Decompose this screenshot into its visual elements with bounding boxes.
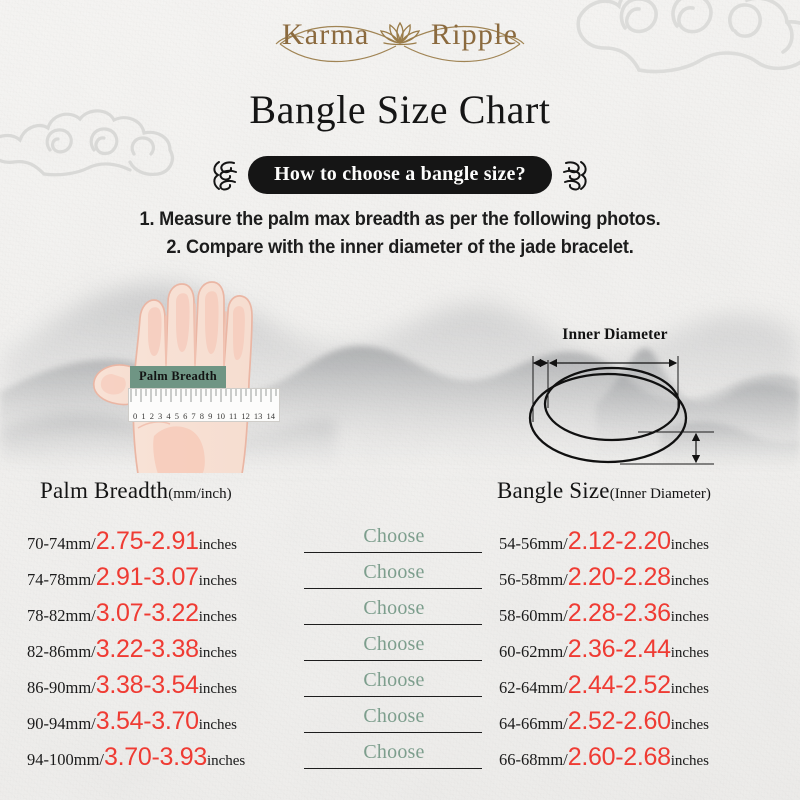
bangle-size-cell: 62-64mm/2.44-2.52inches [492,673,800,698]
choose-label[interactable]: Choose [363,633,424,656]
how-to-badge-row: How to choose a bangle size? [0,156,800,194]
instruction-line-1: 1. Measure the palm max breadth as per t… [28,206,772,234]
swirl-flourish-left-icon [209,158,239,192]
palm-breadth-cell: 94-100mm/3.70-3.93inches [0,745,296,770]
palm-mm-value: 90-94mm/ [27,714,96,733]
choose-label[interactable]: Choose [363,597,424,620]
ruler-tick: 2 [150,412,154,421]
ruler-tick: 6 [183,412,187,421]
bangle-unit: inches [671,717,709,733]
lotus-icon [378,20,422,54]
table-row: 94-100mm/3.70-3.93inches Choose 66-68mm/… [0,739,800,775]
bangle-inch-value: 2.12-2.20 [568,527,671,555]
bangle-inch-value: 2.60-2.68 [568,743,671,771]
choose-label[interactable]: Choose [363,741,424,764]
ruler-tick: 11 [229,412,237,421]
ruler-tick: 8 [200,412,204,421]
bangle-unit: inches [671,645,709,661]
section-heading-text: Palm Breadth [40,478,168,503]
ruler-icon: 0 1 2 3 4 5 6 7 8 9 10 11 12 13 14 [128,388,280,422]
table-row: 86-90mm/3.38-3.54inches Choose 62-64mm/2… [0,667,800,703]
palm-inch-value: 2.75-2.91 [96,527,199,555]
bangle-mm-value: 62-64mm/ [499,678,568,697]
palm-inch-value: 2.91-3.07 [96,563,199,591]
bangle-inch-value: 2.44-2.52 [568,671,671,699]
bangle-unit: inches [671,681,709,697]
palm-mm-value: 94-100mm/ [27,750,104,769]
choose-underline [304,660,482,662]
ruler-tick: 13 [254,412,263,421]
bangle-mm-value: 64-66mm/ [499,714,568,733]
brand-name-part2: Ripple [431,18,518,52]
bangle-mm-value: 60-62mm/ [499,642,568,661]
palm-inch-value: 3.22-3.38 [96,635,199,663]
bangle-unit: inches [671,753,709,769]
ruler-tick-labels: 0 1 2 3 4 5 6 7 8 9 10 11 12 13 14 [129,412,279,421]
section-heading-unit: (Inner Diameter) [610,486,711,502]
size-table: 70-74mm/2.75-2.91inches Choose 54-56mm/2… [0,523,800,775]
palm-breadth-label: Palm Breadth [130,366,226,388]
ruler-tick: 14 [267,412,276,421]
palm-mm-value: 86-90mm/ [27,678,96,697]
palm-mm-value: 70-74mm/ [27,534,96,553]
ruler-tick: 0 [133,412,137,421]
table-row: 74-78mm/2.91-3.07inches Choose 56-58mm/2… [0,559,800,595]
choose-label[interactable]: Choose [363,561,424,584]
bangle-ring-icon [500,346,730,476]
instructions-list: 1. Measure the palm max breadth as per t… [0,206,800,261]
bangle-size-cell: 66-68mm/2.60-2.68inches [492,745,800,770]
bangle-size-cell: 54-56mm/2.12-2.20inches [492,529,800,554]
section-heading-text: Bangle Size [497,478,610,503]
choose-cell[interactable]: Choose [296,559,492,595]
palm-breadth-cell: 90-94mm/3.54-3.70inches [0,709,296,734]
bangle-unit: inches [671,537,709,553]
palm-breadth-cell: 74-78mm/2.91-3.07inches [0,565,296,590]
choose-underline [304,552,482,554]
instruction-line-2: 2. Compare with the inner diameter of th… [28,234,772,262]
table-row: 82-86mm/3.22-3.38inches Choose 60-62mm/2… [0,631,800,667]
palm-unit: inches [199,609,237,625]
bangle-size-cell: 56-58mm/2.20-2.28inches [492,565,800,590]
table-row: 70-74mm/2.75-2.91inches Choose 54-56mm/2… [0,523,800,559]
ruler-tick: 7 [191,412,195,421]
inner-diameter-label: Inner Diameter [500,326,730,344]
how-to-badge: How to choose a bangle size? [248,156,552,194]
choose-cell[interactable]: Choose [296,595,492,631]
choose-cell[interactable]: Choose [296,703,492,739]
bangle-size-chart-page: Karma Ripple Bangle Size Chart [0,0,800,800]
swirl-flourish-right-icon [561,158,591,192]
section-heading-bangle-size: Bangle Size(Inner Diameter) [497,478,711,504]
table-row: 78-82mm/3.07-3.22inches Choose 58-60mm/2… [0,595,800,631]
bangle-inner-diameter-illustration: Inner Diameter [500,326,730,476]
bangle-inch-value: 2.36-2.44 [568,635,671,663]
ruler-tick: 3 [158,412,162,421]
choose-underline [304,624,482,626]
brand-logo: Karma Ripple [0,18,800,54]
section-heading-palm-breadth: Palm Breadth(mm/inch) [40,478,232,504]
ruler-tick: 10 [216,412,225,421]
palm-inch-value: 3.38-3.54 [96,671,199,699]
choose-label[interactable]: Choose [363,669,424,692]
ruler-tick: 1 [141,412,145,421]
palm-mm-value: 74-78mm/ [27,570,96,589]
choose-label[interactable]: Choose [363,705,424,728]
bangle-size-cell: 64-66mm/2.52-2.60inches [492,709,800,734]
bangle-mm-value: 58-60mm/ [499,606,568,625]
palm-inch-value: 3.54-3.70 [96,707,199,735]
palm-inch-value: 3.07-3.22 [96,599,199,627]
choose-cell[interactable]: Choose [296,739,492,775]
bangle-mm-value: 54-56mm/ [499,534,568,553]
palm-breadth-cell: 82-86mm/3.22-3.38inches [0,637,296,662]
brand-name: Karma Ripple [282,18,518,54]
bangle-unit: inches [671,573,709,589]
choose-underline [304,768,482,770]
ruler-tick: 5 [175,412,179,421]
palm-breadth-cell: 70-74mm/2.75-2.91inches [0,529,296,554]
palm-mm-value: 78-82mm/ [27,606,96,625]
palm-inch-value: 3.70-3.93 [104,743,207,771]
table-row: 90-94mm/3.54-3.70inches Choose 64-66mm/2… [0,703,800,739]
choose-cell[interactable]: Choose [296,667,492,703]
choose-label[interactable]: Choose [363,525,424,548]
bangle-inch-value: 2.28-2.36 [568,599,671,627]
palm-unit: inches [199,537,237,553]
palm-breadth-cell: 78-82mm/3.07-3.22inches [0,601,296,626]
palm-unit: inches [199,573,237,589]
choose-underline [304,588,482,590]
section-heading-unit: (mm/inch) [168,486,231,502]
bangle-mm-value: 56-58mm/ [499,570,568,589]
palm-unit: inches [199,645,237,661]
choose-underline [304,732,482,734]
palm-unit: inches [207,753,245,769]
bangle-unit: inches [671,609,709,625]
palm-unit: inches [199,717,237,733]
ruler-tick: 12 [241,412,250,421]
ruler-tick: 4 [166,412,170,421]
bangle-size-cell: 58-60mm/2.28-2.36inches [492,601,800,626]
ruler-tick: 9 [208,412,212,421]
bangle-size-cell: 60-62mm/2.36-2.44inches [492,637,800,662]
hand-measure-illustration: Palm Breadth [92,278,322,473]
choose-underline [304,696,482,698]
bangle-inch-value: 2.20-2.28 [568,563,671,591]
choose-cell[interactable]: Choose [296,631,492,667]
palm-unit: inches [199,681,237,697]
palm-breadth-cell: 86-90mm/3.38-3.54inches [0,673,296,698]
bangle-mm-value: 66-68mm/ [499,750,568,769]
page-title: Bangle Size Chart [0,86,800,133]
choose-cell[interactable]: Choose [296,523,492,559]
brand-name-part1: Karma [282,18,370,52]
palm-mm-value: 82-86mm/ [27,642,96,661]
bangle-inch-value: 2.52-2.60 [568,707,671,735]
